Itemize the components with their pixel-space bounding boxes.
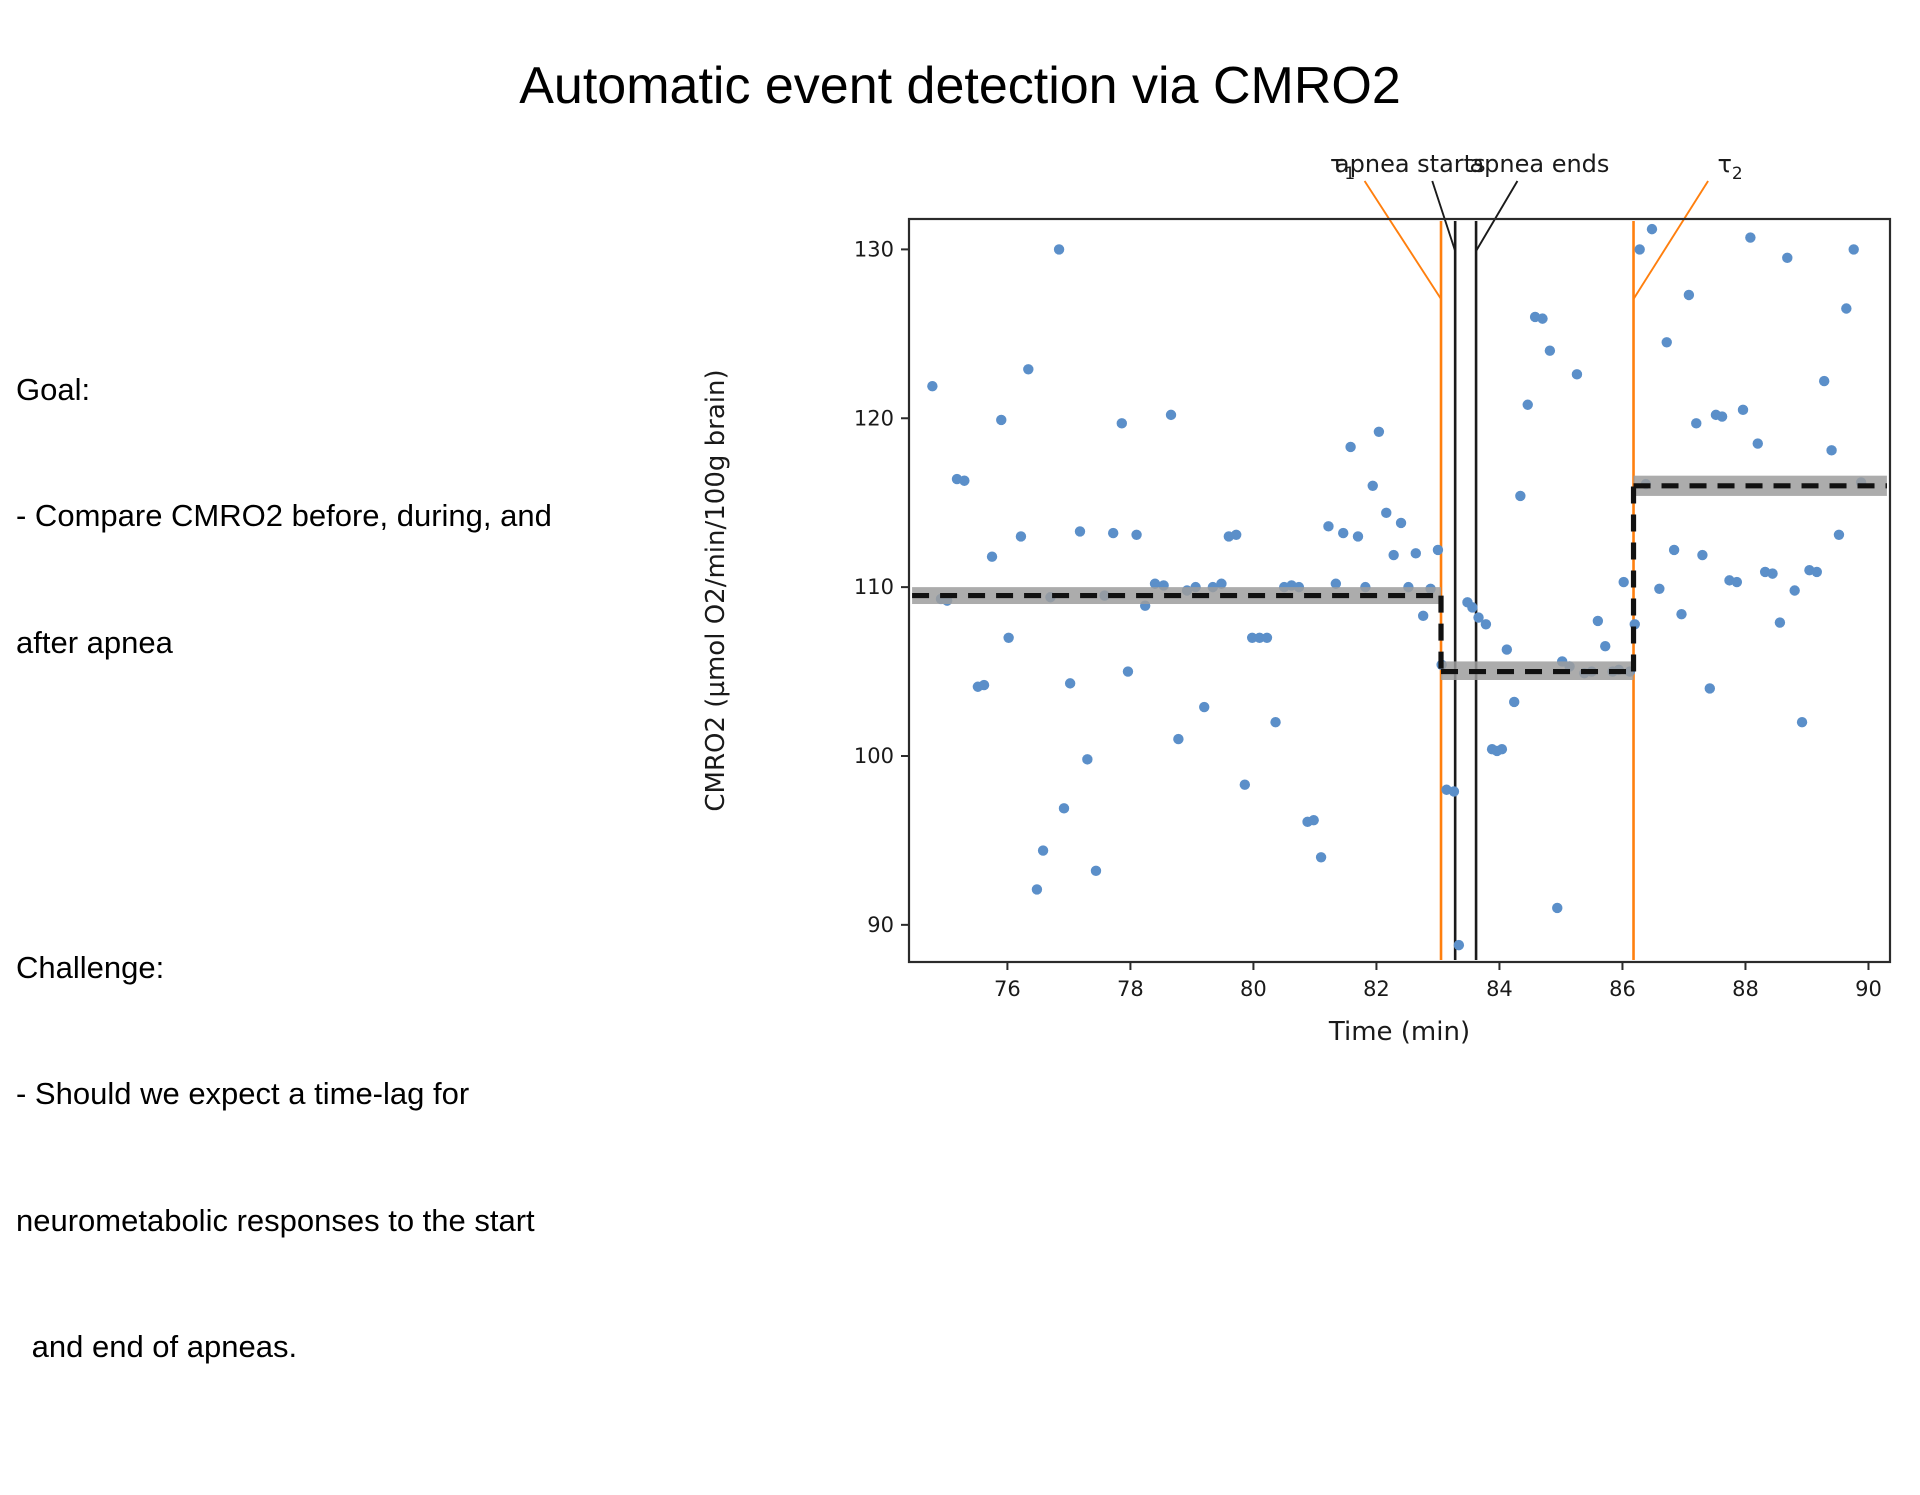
- y-axis-title: CMRO2 (µmol O2/min/100g brain): [701, 369, 731, 811]
- goal-line-1: - Compare CMRO2 before, during, and: [16, 495, 676, 537]
- y-tick-label: 120: [854, 406, 894, 430]
- annotation-leader-tau-end: [1634, 181, 1709, 299]
- y-tick-label: 130: [854, 237, 894, 261]
- scatter-point: [1240, 779, 1250, 789]
- annotation-leader-apnea-end: [1476, 181, 1517, 251]
- event-vertical-lines: [1441, 221, 1634, 960]
- scatter-point: [1676, 609, 1686, 619]
- scatter-point: [1502, 644, 1512, 654]
- scatter-point: [1353, 531, 1363, 541]
- scatter-point: [1634, 244, 1644, 254]
- scatter-point: [1173, 734, 1183, 744]
- scatter-point: [1467, 602, 1477, 612]
- scatter-point: [1231, 530, 1241, 540]
- scatter-point: [1270, 717, 1280, 727]
- scatter-point: [1454, 940, 1464, 950]
- scatter-point: [1262, 633, 1272, 643]
- scatter-point: [1834, 530, 1844, 540]
- scatter-point: [1775, 617, 1785, 627]
- scatter-point: [1849, 244, 1859, 254]
- annotation-leader-tau-start: [1365, 181, 1441, 299]
- scatter-point: [959, 476, 969, 486]
- scatter-point: [1338, 528, 1348, 538]
- scatter-point: [1509, 697, 1519, 707]
- scatter-point: [1826, 445, 1836, 455]
- scatter-point: [1767, 568, 1777, 578]
- scatter-point: [1323, 521, 1333, 531]
- scatter-point: [1117, 418, 1127, 428]
- x-tick-label: 82: [1363, 977, 1390, 1001]
- scatter-point: [1593, 616, 1603, 626]
- scatter-point: [1433, 545, 1443, 555]
- scatter-point: [1782, 253, 1792, 263]
- x-axis-ticks: 7678808284868890: [994, 962, 1882, 1001]
- x-tick-label: 76: [994, 977, 1021, 1001]
- scatter-point: [1123, 666, 1133, 676]
- goal-line-2: after apnea: [16, 622, 676, 664]
- scatter-point: [1684, 290, 1694, 300]
- challenge-line-2: neurometabolic responses to the start: [16, 1200, 676, 1242]
- scatter-point: [1717, 411, 1727, 421]
- scatter-point: [1023, 364, 1033, 374]
- scatter-point: [1016, 531, 1026, 541]
- scatter-point: [1345, 442, 1355, 452]
- scatter-point: [1572, 369, 1582, 379]
- scatter-point: [1523, 400, 1533, 410]
- scatter-point: [1797, 717, 1807, 727]
- scatter-point: [1753, 438, 1763, 448]
- challenge-heading: Challenge:: [16, 947, 676, 989]
- scatter-point: [1738, 405, 1748, 415]
- annotation-label-apnea-start: apnea starts: [1335, 150, 1486, 178]
- y-tick-label: 90: [867, 913, 894, 937]
- x-tick-label: 88: [1732, 977, 1759, 1001]
- x-tick-label: 84: [1486, 977, 1513, 1001]
- scatter-point: [1075, 526, 1085, 536]
- scatter-point: [1497, 744, 1507, 754]
- scatter-point: [1038, 845, 1048, 855]
- scatter-point: [1662, 337, 1672, 347]
- scatter-point: [1065, 678, 1075, 688]
- scatter-point: [1003, 633, 1013, 643]
- goal-heading: Goal:: [16, 369, 676, 411]
- scatter-point: [1374, 427, 1384, 437]
- scatter-point: [1131, 530, 1141, 540]
- x-axis-title: Time (min): [1328, 1017, 1470, 1047]
- annotation-label-apnea-end: apnea ends: [1469, 150, 1609, 178]
- annotation-label-tau-end: τ2: [1717, 150, 1742, 184]
- scatter-point: [1618, 577, 1628, 587]
- scatter-point: [1789, 585, 1799, 595]
- scatter-point: [1819, 376, 1829, 386]
- scatter-point: [927, 381, 937, 391]
- scatter-point: [1812, 567, 1822, 577]
- scatter-point: [1481, 619, 1491, 629]
- scatter-point: [1054, 244, 1064, 254]
- scatter-point: [1316, 852, 1326, 862]
- scatter-point: [1691, 418, 1701, 428]
- challenge-paragraph: Challenge: - Should we expect a time-lag…: [16, 862, 676, 1452]
- challenge-line-1: - Should we expect a time-lag for: [16, 1073, 676, 1115]
- scatter-point: [1537, 313, 1547, 323]
- chart-canvas: τ1apnea startsapnea endsτ2 7678808284868…: [660, 130, 1920, 1080]
- goal-paragraph: Goal: - Compare CMRO2 before, during, an…: [16, 284, 676, 748]
- scatter-point: [1166, 410, 1176, 420]
- scatter-point: [1108, 528, 1118, 538]
- scatter-point: [1705, 683, 1715, 693]
- challenge-line-3: and end of apneas.: [16, 1326, 676, 1368]
- scatter-point: [1647, 224, 1657, 234]
- y-tick-label: 110: [854, 575, 894, 599]
- scatter-point: [996, 415, 1006, 425]
- scatter-point: [1032, 884, 1042, 894]
- scatter-point: [1697, 550, 1707, 560]
- x-tick-label: 86: [1609, 977, 1636, 1001]
- scatter-point: [1309, 815, 1319, 825]
- scatter-point: [1669, 545, 1679, 555]
- scatter-point: [1841, 303, 1851, 313]
- scatter-point: [1091, 866, 1101, 876]
- annotation-layer: τ1apnea startsapnea endsτ2: [1330, 150, 1743, 299]
- x-tick-label: 80: [1240, 977, 1267, 1001]
- page-title: Automatic event detection via CMRO2: [0, 58, 1920, 115]
- scatter-point: [1381, 508, 1391, 518]
- y-axis-ticks: 90100110120130: [854, 237, 909, 936]
- scatter-point: [1449, 786, 1459, 796]
- scatter-point: [979, 680, 989, 690]
- scatter-point: [1745, 232, 1755, 242]
- scatter-point: [1732, 577, 1742, 587]
- cmro2-scatter-figure: τ1apnea startsapnea endsτ2 7678808284868…: [660, 130, 1920, 1080]
- scatter-point: [1545, 346, 1555, 356]
- scatter-point: [1515, 491, 1525, 501]
- scatter-point: [1411, 548, 1421, 558]
- scatter-point: [1600, 641, 1610, 651]
- scatter-point: [1552, 903, 1562, 913]
- scatter-point: [1082, 754, 1092, 764]
- scatter-point: [1418, 611, 1428, 621]
- y-tick-label: 100: [854, 744, 894, 768]
- scatter-point: [1388, 550, 1398, 560]
- step-fit-segments: [912, 476, 1887, 680]
- scatter-point: [1396, 518, 1406, 528]
- scatter-point: [1199, 702, 1209, 712]
- scatter-point: [1654, 584, 1664, 594]
- body-text: Goal: - Compare CMRO2 before, during, an…: [16, 200, 676, 1495]
- x-tick-label: 78: [1117, 977, 1144, 1001]
- scatter-point: [1059, 803, 1069, 813]
- x-tick-label: 90: [1855, 977, 1882, 1001]
- annotation-leader-apnea-start: [1432, 181, 1455, 251]
- scatter-point: [1368, 481, 1378, 491]
- scatter-point: [987, 552, 997, 562]
